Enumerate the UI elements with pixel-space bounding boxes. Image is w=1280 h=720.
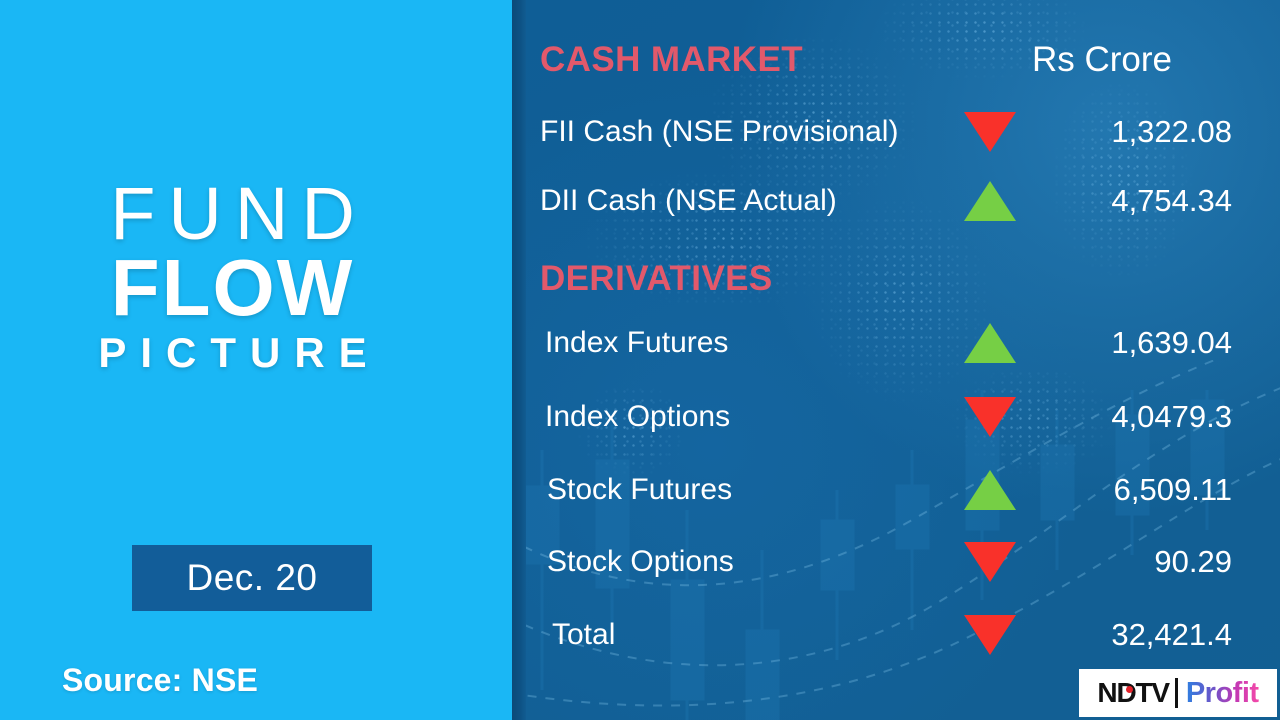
row-value: 6,509.11 xyxy=(1012,472,1232,508)
unit-label: Rs Crore xyxy=(952,40,1252,80)
logo-divider-bar xyxy=(1175,678,1178,708)
brand-line-fund: FUND xyxy=(0,178,465,251)
date-badge: Dec. 20 xyxy=(132,545,372,611)
table-row: Index Futures 1,639.04 xyxy=(512,321,1280,365)
ndtv-profit-logo: NDTV Profit xyxy=(1079,669,1277,717)
fund-flow-table: CASH MARKET Rs Crore FII Cash (NSE Provi… xyxy=(512,0,1280,720)
panel-divider xyxy=(512,0,526,720)
row-label: Stock Options xyxy=(512,545,734,579)
logo-ndtv-text: NDTV xyxy=(1097,677,1168,708)
row-label: FII Cash (NSE Provisional) xyxy=(512,115,898,149)
section-title: DERIVATIVES xyxy=(512,259,773,299)
section-title: CASH MARKET xyxy=(512,40,803,80)
section-header-derivatives: DERIVATIVES xyxy=(512,259,1280,299)
source-attribution: Source: NSE xyxy=(62,662,258,699)
row-value: 1,639.04 xyxy=(1012,325,1232,361)
table-row: Stock Futures 6,509.11 xyxy=(512,468,1280,512)
row-label: Index Options xyxy=(512,400,730,434)
table-row: Index Options 4,0479.3 xyxy=(512,395,1280,439)
row-value: 90.29 xyxy=(1012,544,1232,580)
row-label: Stock Futures xyxy=(512,473,732,507)
brand-line-flow: FLOW xyxy=(0,247,465,329)
table-row: DII Cash (NSE Actual) 4,754.34 xyxy=(512,179,1280,223)
logo-profit-text: Profit xyxy=(1186,677,1259,710)
left-branding-panel: FUND FLOW PICTURE Dec. 20 Source: NSE xyxy=(0,0,512,720)
row-value: 1,322.08 xyxy=(1012,114,1232,150)
brand-title-block: FUND FLOW PICTURE xyxy=(0,178,465,376)
row-value: 4,754.34 xyxy=(1012,183,1232,219)
row-value: 32,421.4 xyxy=(1012,617,1232,653)
brand-line-picture: PICTURE xyxy=(0,330,465,376)
table-row: Total 32,421.4 xyxy=(512,613,1280,657)
row-label: Total xyxy=(512,618,615,652)
table-row: FII Cash (NSE Provisional) 1,322.08 xyxy=(512,110,1280,154)
row-value: 4,0479.3 xyxy=(1012,399,1232,435)
fund-flow-picture-graphic: FUND FLOW PICTURE Dec. 20 Source: NSE xyxy=(0,0,1280,720)
date-badge-label: Dec. 20 xyxy=(186,557,317,599)
logo-ndtv-wordmark: NDTV xyxy=(1097,677,1168,709)
row-label: DII Cash (NSE Actual) xyxy=(512,184,837,218)
table-row: Stock Options 90.29 xyxy=(512,540,1280,584)
row-label: Index Futures xyxy=(512,326,728,360)
